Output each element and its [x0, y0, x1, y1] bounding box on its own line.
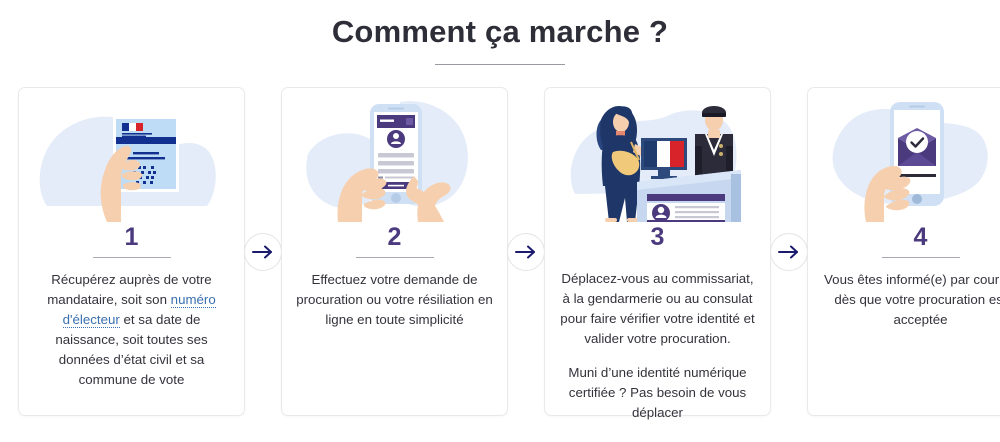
step-card-1: 1 Récupérez auprès de votre mandataire, …: [18, 87, 245, 416]
electoral-card-in-hand-illustration: [29, 94, 234, 222]
step-card-3: 3 Déplacez-vous au commissariat, à la ge…: [544, 87, 771, 416]
step-description-1: Récupérez auprès de votre mandataire, so…: [30, 270, 233, 390]
title-divider: [435, 64, 565, 65]
arrow-right-icon: [252, 244, 274, 260]
step-description-3: Déplacez-vous au commissariat, à la gend…: [556, 269, 759, 423]
step-text: Vous êtes informé(e) par courriel dès qu…: [819, 270, 1000, 330]
police-counter-identity-check-illustration: [555, 94, 760, 222]
step-number-divider: [882, 257, 960, 258]
how-it-works-section: Comment ça marche ?: [0, 0, 1000, 442]
arrow-holder-2: [508, 87, 544, 416]
page-title: Comment ça marche ?: [0, 10, 1000, 54]
step-description-2: Effectuez votre demande de procuration o…: [293, 270, 496, 330]
step-number: 3: [651, 222, 665, 252]
step-number-divider: [356, 257, 434, 258]
arrow-right-icon: [778, 244, 800, 260]
step-description-4: Vous êtes informé(e) par courriel dès qu…: [819, 270, 1000, 330]
arrow-step-2-to-3[interactable]: [507, 233, 545, 271]
step-number-divider: [93, 257, 171, 258]
step-text: Effectuez votre demande de procuration o…: [293, 270, 496, 330]
arrow-step-3-to-4[interactable]: [770, 233, 808, 271]
arrow-holder-1: [245, 87, 281, 416]
steps-row: 1 Récupérez auprès de votre mandataire, …: [18, 87, 982, 416]
step-number: 1: [125, 222, 139, 252]
arrow-holder-3: [771, 87, 807, 416]
phone-form-in-hands-illustration: [292, 94, 497, 222]
step-card-2: 2 Effectuez votre demande de procuration…: [281, 87, 508, 416]
step-card-4: 4 Vous êtes informé(e) par courriel dès …: [807, 87, 1000, 416]
step-text-secondary: Muni d’une identité numérique certifiée …: [556, 363, 759, 423]
step-text: Déplacez-vous au commissariat, à la gend…: [556, 269, 759, 349]
step-number: 4: [914, 222, 928, 252]
arrow-step-1-to-2[interactable]: [244, 233, 282, 271]
phone-email-confirmation-illustration: [818, 94, 1000, 222]
step-number: 2: [388, 222, 402, 252]
arrow-right-icon: [515, 244, 537, 260]
